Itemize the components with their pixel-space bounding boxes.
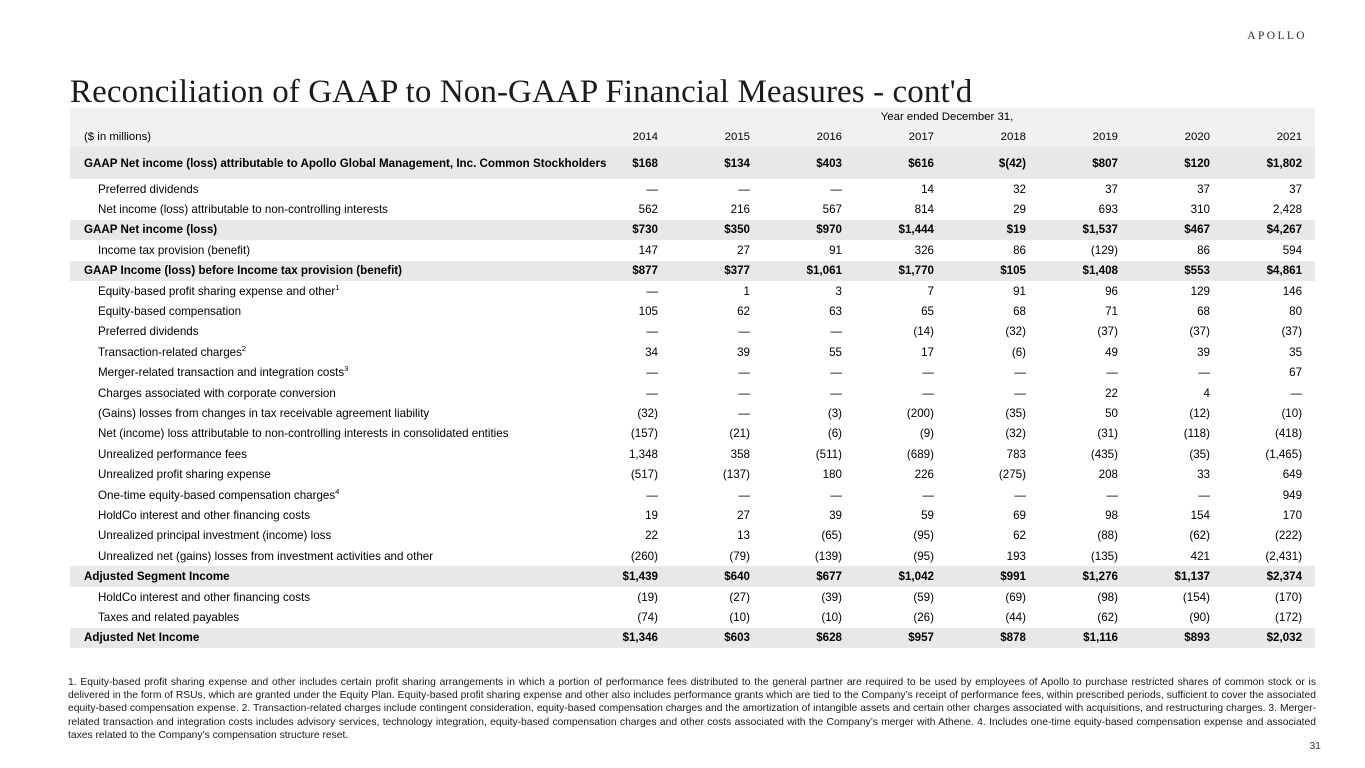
cell-2015: 216 [671, 199, 763, 219]
cell-2017: (95) [855, 546, 947, 566]
cell-2020: 37 [1131, 179, 1223, 199]
cell-2014: (260) [579, 546, 671, 566]
cell-2018: — [947, 363, 1039, 383]
cell-2016: — [763, 179, 855, 199]
row-label: GAAP Net income (loss) [70, 220, 579, 240]
cell-2021: (2,431) [1223, 546, 1315, 566]
cell-2020: (62) [1131, 526, 1223, 546]
cell-2018: 32 [947, 179, 1039, 199]
table-row: GAAP Income (loss) before Income tax pro… [70, 261, 1315, 281]
table-row: Equity-based profit sharing expense and … [70, 281, 1315, 301]
cell-2015: — [671, 322, 763, 342]
cell-2021: 35 [1223, 342, 1315, 362]
table-row: Unrealized profit sharing expense(517)(1… [70, 464, 1315, 484]
column-header-2019: 2019 [1039, 126, 1131, 147]
cell-2014: 147 [579, 240, 671, 260]
cell-2017: $616 [855, 147, 947, 179]
row-label: Charges associated with corporate conver… [70, 383, 579, 403]
cell-2020: (118) [1131, 424, 1223, 444]
cell-2018: (32) [947, 322, 1039, 342]
cell-2019: $1,116 [1039, 628, 1131, 648]
cell-2014: 34 [579, 342, 671, 362]
cell-2020: (90) [1131, 607, 1223, 627]
cell-2019: 693 [1039, 199, 1131, 219]
cell-2015: $134 [671, 147, 763, 179]
cell-2021: 649 [1223, 464, 1315, 484]
row-label: GAAP Income (loss) before Income tax pro… [70, 261, 579, 281]
row-label: Unrealized principal investment (income)… [70, 526, 579, 546]
cell-2020: — [1131, 363, 1223, 383]
cell-2021: 170 [1223, 505, 1315, 525]
cell-2020: (37) [1131, 322, 1223, 342]
cell-2016: — [763, 363, 855, 383]
cell-2020: 421 [1131, 546, 1223, 566]
cell-2019: (88) [1039, 526, 1131, 546]
cell-2019: (435) [1039, 444, 1131, 464]
cell-2019: 208 [1039, 464, 1131, 484]
cell-2014: — [579, 179, 671, 199]
cell-2014: (74) [579, 607, 671, 627]
table-row: Merger-related transaction and integrati… [70, 363, 1315, 383]
cell-2015: 39 [671, 342, 763, 362]
cell-2017: (26) [855, 607, 947, 627]
cell-2014: — [579, 281, 671, 301]
cell-2021: (418) [1223, 424, 1315, 444]
cell-2019: (37) [1039, 322, 1131, 342]
cell-2018: 91 [947, 281, 1039, 301]
cell-2017: (200) [855, 403, 947, 423]
table-row: One-time equity-based compensation charg… [70, 485, 1315, 505]
cell-2015: $640 [671, 566, 763, 586]
cell-2019: (31) [1039, 424, 1131, 444]
page-title: Reconciliation of GAAP to Non-GAAP Finan… [70, 74, 972, 111]
cell-2021: $2,032 [1223, 628, 1315, 648]
cell-2020: $1,137 [1131, 566, 1223, 586]
table-row: GAAP Net income (loss) attributable to A… [70, 147, 1315, 179]
cell-2015: 358 [671, 444, 763, 464]
table-body: GAAP Net income (loss) attributable to A… [70, 147, 1315, 648]
cell-2018: 193 [947, 546, 1039, 566]
footnote-marker: 3 [344, 364, 348, 373]
cell-2016: (511) [763, 444, 855, 464]
table-row: Income tax provision (benefit)1472791326… [70, 240, 1315, 260]
cell-2015: 62 [671, 301, 763, 321]
row-label: Taxes and related payables [70, 607, 579, 627]
cell-2016: (10) [763, 607, 855, 627]
cell-2016: — [763, 383, 855, 403]
table-row: Equity-based compensation105626365687168… [70, 301, 1315, 321]
apollo-logo: APOLLO [1247, 30, 1307, 42]
footnote-marker: 2 [242, 344, 246, 353]
column-header-2017: 2017 [855, 126, 947, 147]
cell-2018: 86 [947, 240, 1039, 260]
cell-2014: — [579, 383, 671, 403]
column-header-2014: 2014 [579, 126, 671, 147]
cell-2021: (10) [1223, 403, 1315, 423]
cell-2021: 80 [1223, 301, 1315, 321]
cell-2017: 14 [855, 179, 947, 199]
cell-2019: (62) [1039, 607, 1131, 627]
cell-2019: (129) [1039, 240, 1131, 260]
table-row: Net income (loss) attributable to non-co… [70, 199, 1315, 219]
cell-2017: 326 [855, 240, 947, 260]
column-header-2018: 2018 [947, 126, 1039, 147]
cell-2016: (3) [763, 403, 855, 423]
row-label: HoldCo interest and other financing cost… [70, 587, 579, 607]
cell-2017: $1,444 [855, 220, 947, 240]
cell-2020: 4 [1131, 383, 1223, 403]
reconciliation-table: Year ended December 31, ($ in millions) … [70, 108, 1315, 648]
table-row: Unrealized net (gains) losses from inves… [70, 546, 1315, 566]
table-row: Adjusted Net Income$1,346$603$628$957$87… [70, 628, 1315, 648]
cell-2018: 69 [947, 505, 1039, 525]
cell-2019: 98 [1039, 505, 1131, 525]
cell-2020: 39 [1131, 342, 1223, 362]
cell-2019: — [1039, 363, 1131, 383]
cell-2018: $878 [947, 628, 1039, 648]
cell-2015: 1 [671, 281, 763, 301]
cell-2017: $1,042 [855, 566, 947, 586]
cell-2021: 67 [1223, 363, 1315, 383]
cell-2014: 19 [579, 505, 671, 525]
cell-2017: 17 [855, 342, 947, 362]
cell-2014: $1,439 [579, 566, 671, 586]
cell-2017: (14) [855, 322, 947, 342]
cell-2021: $4,861 [1223, 261, 1315, 281]
row-label: Merger-related transaction and integrati… [70, 363, 579, 383]
cell-2019: $1,408 [1039, 261, 1131, 281]
cell-2018: (69) [947, 587, 1039, 607]
cell-2017: 59 [855, 505, 947, 525]
unit-label: ($ in millions) [70, 126, 579, 147]
cell-2017: (95) [855, 526, 947, 546]
row-label: Unrealized profit sharing expense [70, 464, 579, 484]
row-label: Adjusted Net Income [70, 628, 579, 648]
row-label: Unrealized net (gains) losses from inves… [70, 546, 579, 566]
footnote-marker: 4 [335, 487, 339, 496]
cell-2014: $877 [579, 261, 671, 281]
column-header-2020: 2020 [1131, 126, 1223, 147]
column-header-2015: 2015 [671, 126, 763, 147]
row-label: Preferred dividends [70, 322, 579, 342]
cell-2018: — [947, 383, 1039, 403]
cell-2014: (32) [579, 403, 671, 423]
footnote-marker: 1 [335, 283, 339, 292]
cell-2017: (689) [855, 444, 947, 464]
cell-2015: — [671, 179, 763, 199]
cell-2014: $730 [579, 220, 671, 240]
cell-2016: 3 [763, 281, 855, 301]
cell-2017: (59) [855, 587, 947, 607]
cell-2014: 105 [579, 301, 671, 321]
cell-2014: — [579, 485, 671, 505]
cell-2021: (222) [1223, 526, 1315, 546]
cell-2019: (135) [1039, 546, 1131, 566]
cell-2018: $(42) [947, 147, 1039, 179]
cell-2016: $403 [763, 147, 855, 179]
cell-2019: 22 [1039, 383, 1131, 403]
cell-2021: 146 [1223, 281, 1315, 301]
footnotes: 1. Equity-based profit sharing expense a… [68, 676, 1316, 742]
cell-2014: — [579, 322, 671, 342]
cell-2014: (517) [579, 464, 671, 484]
cell-2021: (170) [1223, 587, 1315, 607]
cell-2019: (98) [1039, 587, 1131, 607]
row-label: Income tax provision (benefit) [70, 240, 579, 260]
cell-2018: (32) [947, 424, 1039, 444]
table-head: Year ended December 31, ($ in millions) … [70, 108, 1315, 147]
cell-2021: (37) [1223, 322, 1315, 342]
cell-2017: 226 [855, 464, 947, 484]
cell-2015: $377 [671, 261, 763, 281]
cell-2016: 55 [763, 342, 855, 362]
cell-2015: — [671, 383, 763, 403]
cell-2016: 63 [763, 301, 855, 321]
cell-2017: (9) [855, 424, 947, 444]
cell-2016: 39 [763, 505, 855, 525]
cell-2017: — [855, 363, 947, 383]
cell-2018: 783 [947, 444, 1039, 464]
row-label: One-time equity-based compensation charg… [70, 485, 579, 505]
cell-2016: $677 [763, 566, 855, 586]
cell-2019: 49 [1039, 342, 1131, 362]
table-row: Preferred dividends———(14)(32)(37)(37)(3… [70, 322, 1315, 342]
cell-2014: 22 [579, 526, 671, 546]
cell-2020: (35) [1131, 444, 1223, 464]
cell-2020: $120 [1131, 147, 1223, 179]
table-row: HoldCo interest and other financing cost… [70, 505, 1315, 525]
row-label: Preferred dividends [70, 179, 579, 199]
cell-2016: (39) [763, 587, 855, 607]
cell-2019: $1,537 [1039, 220, 1131, 240]
cell-2016: — [763, 322, 855, 342]
table-row: Adjusted Segment Income$1,439$640$677$1,… [70, 566, 1315, 586]
cell-2015: 27 [671, 505, 763, 525]
table-row: Unrealized performance fees1,348358(511)… [70, 444, 1315, 464]
cell-2015: 27 [671, 240, 763, 260]
cell-2018: $105 [947, 261, 1039, 281]
cell-2016: 567 [763, 199, 855, 219]
cell-2014: $1,346 [579, 628, 671, 648]
cell-2016: (139) [763, 546, 855, 566]
cell-2015: $350 [671, 220, 763, 240]
cell-2015: (137) [671, 464, 763, 484]
cell-2018: (6) [947, 342, 1039, 362]
table-row: (Gains) losses from changes in tax recei… [70, 403, 1315, 423]
row-label: (Gains) losses from changes in tax recei… [70, 403, 579, 423]
row-label: Equity-based profit sharing expense and … [70, 281, 579, 301]
cell-2018: 62 [947, 526, 1039, 546]
cell-2016: $1,061 [763, 261, 855, 281]
cell-2018: (35) [947, 403, 1039, 423]
span-header-label: Year ended December 31, [579, 108, 1315, 126]
cell-2015: (10) [671, 607, 763, 627]
cell-2017: — [855, 383, 947, 403]
cell-2020: $467 [1131, 220, 1223, 240]
row-label: Adjusted Segment Income [70, 566, 579, 586]
cell-2020: 154 [1131, 505, 1223, 525]
cell-2018: 29 [947, 199, 1039, 219]
cell-2017: — [855, 485, 947, 505]
cell-2014: 1,348 [579, 444, 671, 464]
cell-2014: — [579, 363, 671, 383]
cell-2020: $893 [1131, 628, 1223, 648]
cell-2016: $970 [763, 220, 855, 240]
table-row: GAAP Net income (loss)$730$350$970$1,444… [70, 220, 1315, 240]
cell-2021: 2,428 [1223, 199, 1315, 219]
cell-2020: 310 [1131, 199, 1223, 219]
cell-2018: (44) [947, 607, 1039, 627]
cell-2017: 7 [855, 281, 947, 301]
cell-2018: 68 [947, 301, 1039, 321]
column-header-2021: 2021 [1223, 126, 1315, 147]
cell-2020: (154) [1131, 587, 1223, 607]
cell-2015: $603 [671, 628, 763, 648]
cell-2018: (275) [947, 464, 1039, 484]
cell-2016: 180 [763, 464, 855, 484]
cell-2021: $2,374 [1223, 566, 1315, 586]
cell-2015: — [671, 485, 763, 505]
table-row: Unrealized principal investment (income)… [70, 526, 1315, 546]
cell-2015: — [671, 363, 763, 383]
cell-2017: 65 [855, 301, 947, 321]
cell-2021: $1,802 [1223, 147, 1315, 179]
cell-2015: (79) [671, 546, 763, 566]
cell-2020: 33 [1131, 464, 1223, 484]
row-label: Equity-based compensation [70, 301, 579, 321]
cell-2016: (6) [763, 424, 855, 444]
cell-2014: (19) [579, 587, 671, 607]
row-label: Transaction-related charges2 [70, 342, 579, 362]
row-label: Unrealized performance fees [70, 444, 579, 464]
column-header-2016: 2016 [763, 126, 855, 147]
table-row: HoldCo interest and other financing cost… [70, 587, 1315, 607]
cell-2021: (172) [1223, 607, 1315, 627]
cell-2019: $807 [1039, 147, 1131, 179]
page-number: 31 [1309, 740, 1321, 752]
cell-2020: $553 [1131, 261, 1223, 281]
cell-2018: $991 [947, 566, 1039, 586]
cell-2014: 562 [579, 199, 671, 219]
cell-2019: — [1039, 485, 1131, 505]
span-header-spacer [70, 108, 579, 126]
table-span-header-row: Year ended December 31, [70, 108, 1315, 126]
cell-2016: — [763, 485, 855, 505]
cell-2021: 594 [1223, 240, 1315, 260]
reconciliation-table-wrapper: Year ended December 31, ($ in millions) … [70, 108, 1315, 648]
cell-2015: (21) [671, 424, 763, 444]
cell-2014: (157) [579, 424, 671, 444]
table-row: Preferred dividends———1432373737 [70, 179, 1315, 199]
cell-2018: $19 [947, 220, 1039, 240]
cell-2015: 13 [671, 526, 763, 546]
cell-2015: — [671, 403, 763, 423]
cell-2017: 814 [855, 199, 947, 219]
cell-2017: $1,770 [855, 261, 947, 281]
cell-2016: $628 [763, 628, 855, 648]
cell-2016: (65) [763, 526, 855, 546]
row-label: Net income (loss) attributable to non-co… [70, 199, 579, 219]
cell-2020: (12) [1131, 403, 1223, 423]
table-column-header-row: ($ in millions) 2014 2015 2016 2017 2018… [70, 126, 1315, 147]
cell-2019: 96 [1039, 281, 1131, 301]
cell-2021: — [1223, 383, 1315, 403]
cell-2021: 37 [1223, 179, 1315, 199]
cell-2021: 949 [1223, 485, 1315, 505]
cell-2021: $4,267 [1223, 220, 1315, 240]
cell-2019: 50 [1039, 403, 1131, 423]
row-label: Net (income) loss attributable to non-co… [70, 424, 579, 444]
cell-2015: (27) [671, 587, 763, 607]
cell-2019: 71 [1039, 301, 1131, 321]
table-row: Net (income) loss attributable to non-co… [70, 424, 1315, 444]
cell-2020: 129 [1131, 281, 1223, 301]
cell-2020: 68 [1131, 301, 1223, 321]
table-row: Transaction-related charges234395517(6)4… [70, 342, 1315, 362]
cell-2020: 86 [1131, 240, 1223, 260]
row-label: HoldCo interest and other financing cost… [70, 505, 579, 525]
table-row: Taxes and related payables(74)(10)(10)(2… [70, 607, 1315, 627]
cell-2019: $1,276 [1039, 566, 1131, 586]
row-label: GAAP Net income (loss) attributable to A… [70, 147, 579, 179]
table-row: Charges associated with corporate conver… [70, 383, 1315, 403]
cell-2017: $957 [855, 628, 947, 648]
cell-2020: — [1131, 485, 1223, 505]
cell-2019: 37 [1039, 179, 1131, 199]
cell-2018: — [947, 485, 1039, 505]
cell-2021: (1,465) [1223, 444, 1315, 464]
cell-2016: 91 [763, 240, 855, 260]
